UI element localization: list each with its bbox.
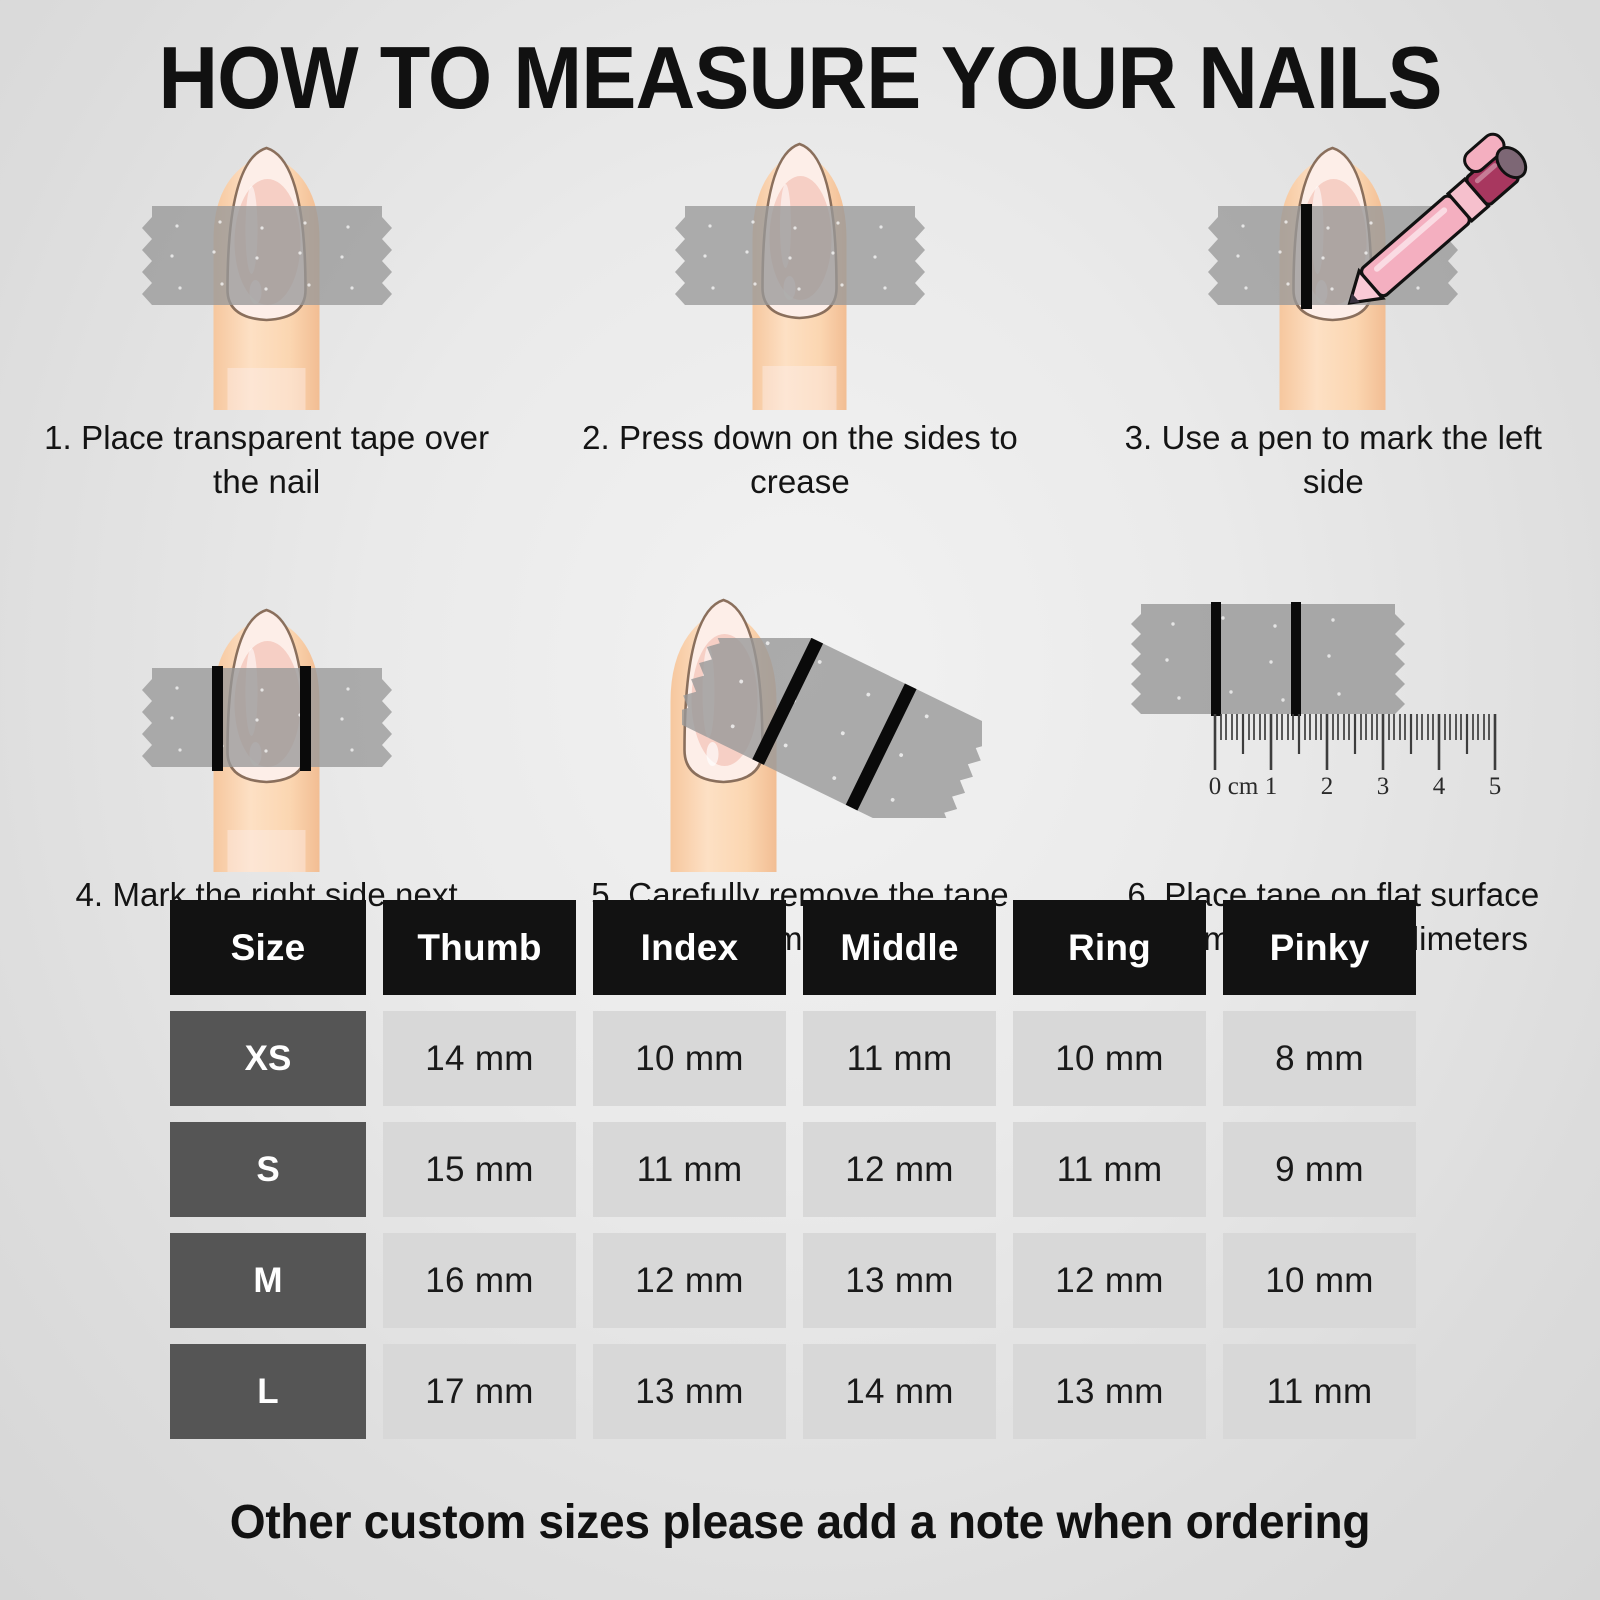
cell-pinky: 9 mm — [1223, 1122, 1416, 1217]
cell-ring: 11 mm — [1013, 1122, 1206, 1217]
footer-note: Other custom sizes please add a note whe… — [32, 1495, 1568, 1550]
step-2: 2. Press down on the sides to crease — [533, 120, 1066, 504]
step-2-caption: 2. Press down on the sides to crease — [565, 416, 1035, 504]
pen-icon — [1321, 110, 1561, 340]
ruler-tick-5: 5 — [1489, 773, 1502, 800]
ruler-tick-2: 2 — [1321, 773, 1334, 800]
mark-right — [1291, 602, 1301, 716]
row-size-label: S — [170, 1122, 366, 1217]
tape-strip — [675, 204, 925, 309]
row-size-label: XS — [170, 1011, 366, 1106]
tape-strip — [1131, 604, 1405, 714]
ruler-unit-label: cm — [1228, 773, 1259, 800]
tape-strip — [142, 204, 392, 309]
table-row: XS 14 mm 10 mm 11 mm 10 mm 8 mm — [170, 1011, 1438, 1106]
step-1: 1. Place transparent tape over the nail — [0, 120, 533, 504]
cell-thumb: 15 mm — [383, 1122, 576, 1217]
cell-middle: 11 mm — [803, 1011, 996, 1106]
header-ring: Ring — [1013, 900, 1206, 995]
cell-middle: 12 mm — [803, 1122, 996, 1217]
left-mark — [1301, 204, 1312, 309]
row-size-label: L — [170, 1344, 366, 1439]
tape-strip — [142, 666, 392, 771]
ruler-tick-0: 0 — [1209, 773, 1222, 800]
right-mark — [300, 666, 311, 771]
left-mark — [212, 666, 223, 771]
header-size: Size — [170, 900, 366, 995]
step-1-illustration — [57, 120, 477, 410]
cell-ring: 13 mm — [1013, 1344, 1206, 1439]
ruler-tick-1: 1 — [1265, 773, 1278, 800]
step-3-caption: 3. Use a pen to mark the left side — [1098, 416, 1568, 504]
cell-ring: 12 mm — [1013, 1233, 1206, 1328]
step-1-caption: 1. Place transparent tape over the nail — [32, 416, 502, 504]
cell-thumb: 16 mm — [383, 1233, 576, 1328]
header-pinky: Pinky — [1223, 900, 1416, 995]
ruler-tick-4: 4 — [1433, 773, 1446, 800]
header-index: Index — [593, 900, 786, 995]
cell-index: 11 mm — [593, 1122, 786, 1217]
step-3: 3. Use a pen to mark the left side — [1067, 120, 1600, 504]
cell-ring: 10 mm — [1013, 1011, 1206, 1106]
header-thumb: Thumb — [383, 900, 576, 995]
cell-index: 12 mm — [593, 1233, 786, 1328]
step-5-illustration — [590, 582, 1010, 867]
ruler-with-tape: 0 cm 1 2 3 4 5 — [1123, 592, 1563, 842]
step-6-illustration: 0 cm 1 2 3 4 5 — [1123, 582, 1543, 867]
header-middle: Middle — [803, 900, 996, 995]
ruler-labels: 0 cm 1 2 3 4 5 — [1209, 773, 1502, 800]
table-row: S 15 mm 11 mm 12 mm 11 mm 9 mm — [170, 1122, 1438, 1217]
steps-section: 1. Place transparent tape over the nail — [0, 120, 1600, 961]
step-2-illustration — [590, 120, 1010, 410]
step-4-illustration — [57, 582, 477, 867]
table-row: L 17 mm 13 mm 14 mm 13 mm 11 mm — [170, 1344, 1438, 1439]
cell-thumb: 14 mm — [383, 1011, 576, 1106]
cell-index: 10 mm — [593, 1011, 786, 1106]
tape-strip-peeled — [682, 638, 982, 818]
table-header-row: Size Thumb Index Middle Ring Pinky — [170, 900, 1438, 995]
cell-middle: 13 mm — [803, 1233, 996, 1328]
size-chart-table: Size Thumb Index Middle Ring Pinky XS 14… — [170, 900, 1438, 1455]
ruler-tick-3: 3 — [1377, 773, 1390, 800]
row-size-label: M — [170, 1233, 366, 1328]
cell-pinky: 8 mm — [1223, 1011, 1416, 1106]
ruler-ticks — [1215, 714, 1495, 770]
mark-left — [1211, 602, 1221, 716]
page-title: HOW TO MEASURE YOUR NAILS — [48, 0, 1552, 122]
cell-pinky: 10 mm — [1223, 1233, 1416, 1328]
steps-row-1: 1. Place transparent tape over the nail — [0, 120, 1600, 504]
ruler-svg: 0 cm 1 2 3 4 5 — [1123, 592, 1563, 842]
cell-middle: 14 mm — [803, 1344, 996, 1439]
cell-index: 13 mm — [593, 1344, 786, 1439]
table-row: M 16 mm 12 mm 13 mm 12 mm 10 mm — [170, 1233, 1438, 1328]
step-3-illustration — [1123, 120, 1543, 410]
cell-pinky: 11 mm — [1223, 1344, 1416, 1439]
cell-thumb: 17 mm — [383, 1344, 576, 1439]
